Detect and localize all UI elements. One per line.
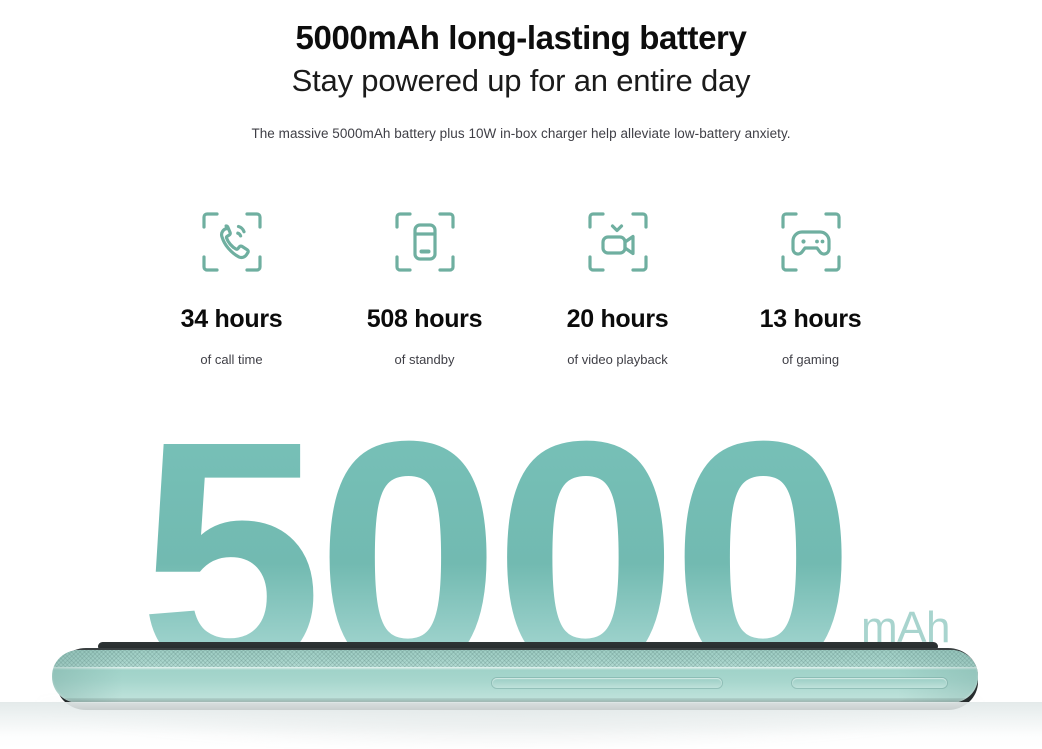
stat-label: of standby [328,353,521,366]
header: 5000mAh long-lasting battery Stay powere… [0,0,1042,141]
stat-value: 34 hours [135,307,328,332]
page-subtitle: Stay powered up for an entire day [0,58,1042,99]
stat-label: of video playback [521,353,714,366]
phone-left-cap [52,650,122,703]
phone-right-cap [898,650,978,703]
page-description: The massive 5000mAh battery plus 10W in-… [0,99,1042,141]
phone-highlight [52,667,978,670]
power-button [792,678,947,688]
stat-gaming: 13 hours of gaming [714,206,907,366]
phone-call-icon [135,206,328,278]
smartphone-icon [328,206,521,278]
stat-value: 508 hours [328,307,521,332]
floor-reflection [0,702,1042,749]
video-camera-icon [521,206,714,278]
stat-video-playback: 20 hours of video playback [521,206,714,366]
battery-stats-row: 34 hours of call time 508 hours of stand… [135,206,907,366]
stat-call-time: 34 hours of call time [135,206,328,366]
gamepad-icon [714,206,907,278]
stat-value: 13 hours [714,307,907,332]
stat-value: 20 hours [521,307,714,332]
stat-standby: 508 hours of standby [328,206,521,366]
stat-label: of call time [135,353,328,366]
phone-textured-rail [52,650,978,667]
phone-body [52,650,978,703]
stat-label: of gaming [714,353,907,366]
volume-button [492,678,722,688]
page-title: 5000mAh long-lasting battery [0,0,1042,58]
